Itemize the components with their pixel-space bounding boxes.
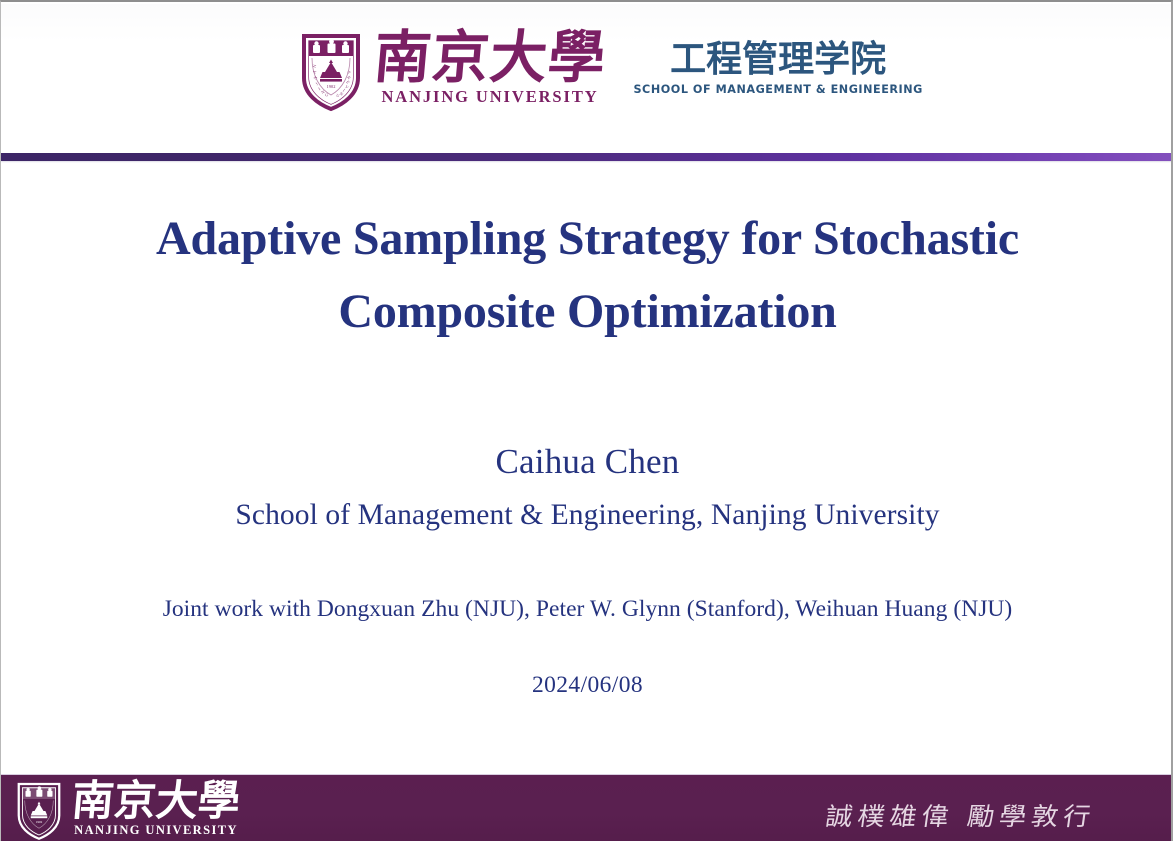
- author-affiliation: School of Management & Engineering, Nanj…: [61, 499, 1114, 532]
- author-name: Caihua Chen: [61, 442, 1114, 482]
- footer-university-wordmark: 南京大學 NANJING UNIVERSITY: [72, 780, 240, 838]
- nanjing-university-crest-icon: 1902 N A N J I N G U N I V E R S: [300, 32, 362, 112]
- school-wordmark: 工程管理学院 SCHOOL OF MANAGEMENT & ENGINEERIN…: [632, 42, 924, 96]
- svg-text:1902: 1902: [327, 84, 336, 89]
- slide-footer: 1902 南京大學 NANJING UNIVERSITY 誠樸雄偉 勵學敦行: [1, 774, 1173, 841]
- svg-text:1902: 1902: [36, 820, 43, 824]
- nanjing-university-crest-icon: 1902: [15, 781, 63, 841]
- page-title: Adaptive Sampling Strategy for Stochasti…: [61, 203, 1114, 349]
- footer-logo-group: 1902 南京大學 NANJING UNIVERSITY: [15, 780, 240, 841]
- university-name-cn: 南京大學: [372, 30, 609, 86]
- footer-university-name-en: NANJING UNIVERSITY: [74, 823, 238, 838]
- presentation-slide: 1902 N A N J I N G U N I V E R S: [0, 0, 1173, 841]
- school-name-en: SCHOOL OF MANAGEMENT & ENGINEERING: [633, 83, 922, 96]
- slide-header: 1902 N A N J I N G U N I V E R S: [1, 4, 1173, 154]
- joint-work-credit: Joint work with Dongxuan Zhu (NJU), Pete…: [41, 596, 1134, 623]
- university-motto: 誠樸雄偉 勵學敦行: [824, 797, 1099, 833]
- slide-body: Adaptive Sampling Strategy for Stochasti…: [1, 161, 1173, 774]
- presentation-date: 2024/06/08: [61, 672, 1114, 699]
- university-wordmark: 南京大學 NANJING UNIVERSITY: [374, 30, 606, 107]
- header-logo-group: 1902 N A N J I N G U N I V E R S: [300, 30, 924, 112]
- header-divider: [1, 153, 1173, 161]
- school-name-cn: 工程管理学院: [670, 42, 886, 78]
- footer-university-name-cn: 南京大學: [70, 780, 242, 822]
